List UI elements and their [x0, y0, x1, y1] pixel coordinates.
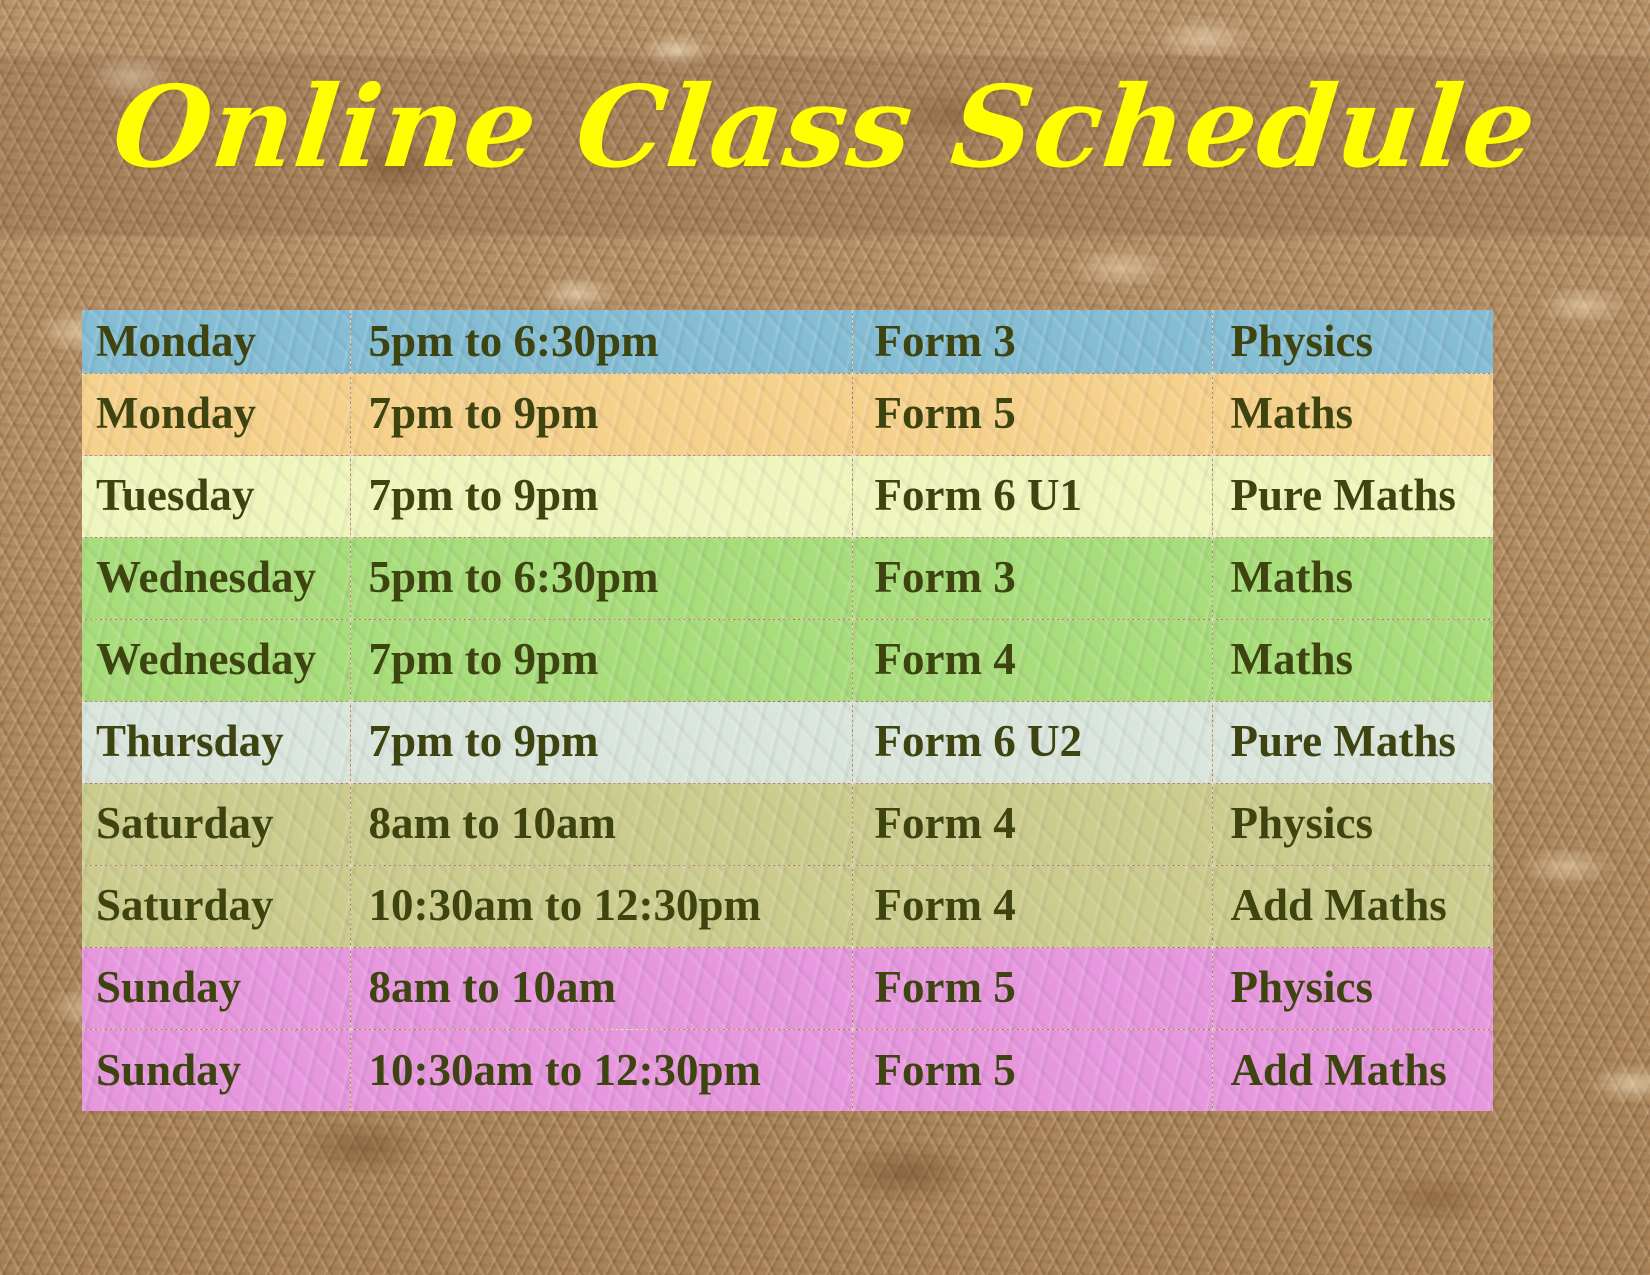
table-row: Monday7pm to 9pmForm 5Maths: [82, 373, 1493, 455]
table-row: Wednesday7pm to 9pmForm 4Maths: [82, 619, 1493, 701]
cell-time: 10:30am to 12:30pm: [350, 865, 852, 947]
cell-day: Sunday: [82, 947, 350, 1029]
cell-time: 8am to 10am: [350, 783, 852, 865]
cell-form: Form 4: [852, 619, 1212, 701]
cell-day: Saturday: [82, 865, 350, 947]
cell-day: Tuesday: [82, 455, 350, 537]
cell-time: 7pm to 9pm: [350, 455, 852, 537]
table-row: Saturday10:30am to 12:30pmForm 4Add Math…: [82, 865, 1493, 947]
table-row: Thursday7pm to 9pmForm 6 U2Pure Maths: [82, 701, 1493, 783]
class-schedule-table: Monday5pm to 6:30pmForm 3PhysicsMonday7p…: [82, 310, 1493, 1111]
cell-time: 7pm to 9pm: [350, 701, 852, 783]
cell-subject: Physics: [1212, 310, 1493, 373]
cell-form: Form 5: [852, 1029, 1212, 1111]
table-row: Wednesday5pm to 6:30pmForm 3Maths: [82, 537, 1493, 619]
cell-form: Form 4: [852, 865, 1212, 947]
cell-time: 5pm to 6:30pm: [350, 310, 852, 373]
cell-subject: Maths: [1212, 373, 1493, 455]
table-row: Tuesday7pm to 9pmForm 6 U1Pure Maths: [82, 455, 1493, 537]
cell-time: 7pm to 9pm: [350, 619, 852, 701]
cell-form: Form 6 U2: [852, 701, 1212, 783]
page-title: Online Class Schedule: [0, 72, 1650, 184]
cell-subject: Pure Maths: [1212, 701, 1493, 783]
cell-day: Wednesday: [82, 537, 350, 619]
cell-subject: Physics: [1212, 783, 1493, 865]
cell-day: Monday: [82, 373, 350, 455]
cell-form: Form 5: [852, 947, 1212, 1029]
cell-day: Sunday: [82, 1029, 350, 1111]
cell-day: Wednesday: [82, 619, 350, 701]
cell-subject: Maths: [1212, 619, 1493, 701]
cell-form: Form 6 U1: [852, 455, 1212, 537]
cell-time: 7pm to 9pm: [350, 373, 852, 455]
table-row: Monday5pm to 6:30pmForm 3Physics: [82, 310, 1493, 373]
cell-day: Monday: [82, 310, 350, 373]
cell-time: 5pm to 6:30pm: [350, 537, 852, 619]
cell-form: Form 3: [852, 537, 1212, 619]
cell-form: Form 4: [852, 783, 1212, 865]
cell-subject: Pure Maths: [1212, 455, 1493, 537]
table-row: Sunday10:30am to 12:30pmForm 5Add Maths: [82, 1029, 1493, 1111]
cell-subject: Maths: [1212, 537, 1493, 619]
cell-form: Form 5: [852, 373, 1212, 455]
cell-form: Form 3: [852, 310, 1212, 373]
cell-day: Saturday: [82, 783, 350, 865]
table-row: Saturday8am to 10amForm 4Physics: [82, 783, 1493, 865]
cell-day: Thursday: [82, 701, 350, 783]
cell-subject: Add Maths: [1212, 1029, 1493, 1111]
cell-time: 8am to 10am: [350, 947, 852, 1029]
table-row: Sunday8am to 10amForm 5Physics: [82, 947, 1493, 1029]
cell-subject: Physics: [1212, 947, 1493, 1029]
cell-time: 10:30am to 12:30pm: [350, 1029, 852, 1111]
cell-subject: Add Maths: [1212, 865, 1493, 947]
